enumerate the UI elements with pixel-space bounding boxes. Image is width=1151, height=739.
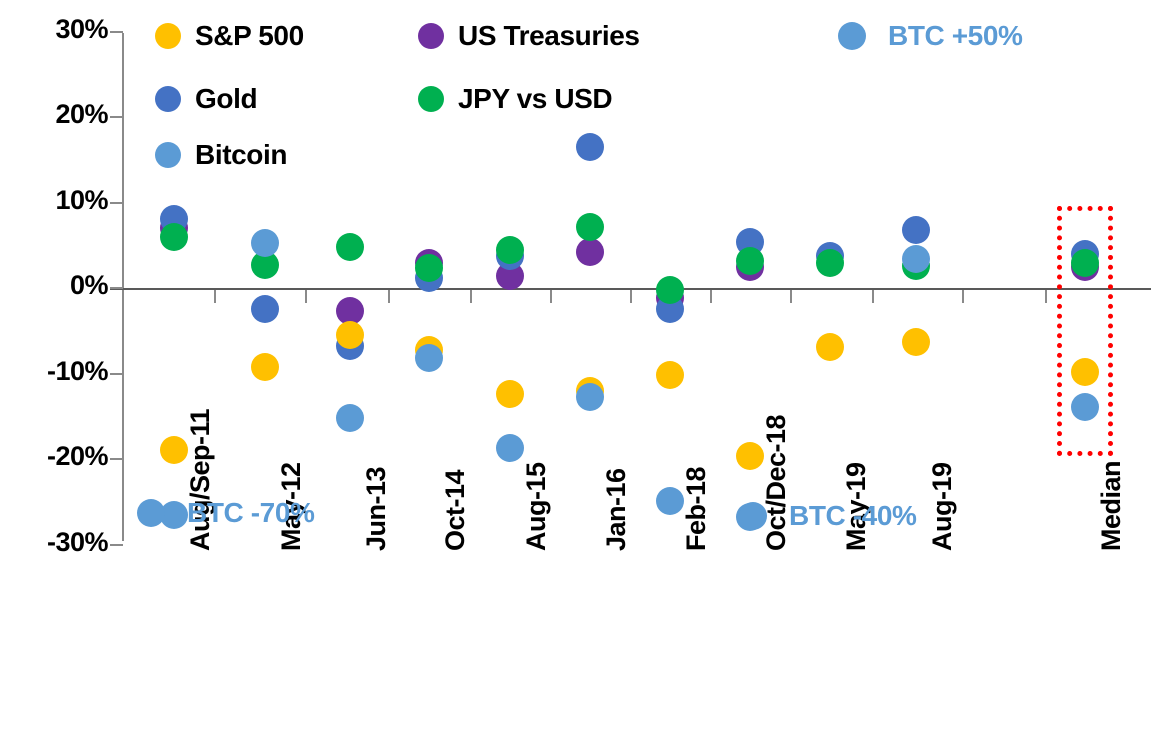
data-point	[1071, 393, 1099, 421]
annotation-label: BTC +50%	[888, 20, 1023, 52]
annotation-btc-minus-70: BTC -70%	[137, 497, 315, 529]
legend-label: Gold	[195, 83, 257, 115]
data-point	[160, 436, 188, 464]
scatter-chart: 30%20%10%0%-10%-20%-30% Aug/Sep-11May-12…	[0, 0, 1151, 739]
legend-item-us-treasuries[interactable]: US Treasuries	[418, 20, 640, 52]
legend-item-s-p-500[interactable]: S&P 500	[155, 20, 304, 52]
x-axis-label: Aug/Sep-11	[185, 409, 216, 551]
legend-swatch-icon	[418, 86, 444, 112]
legend-swatch-icon	[155, 142, 181, 168]
data-point	[576, 238, 604, 266]
legend-label: US Treasuries	[458, 20, 640, 52]
legend-item-gold[interactable]: Gold	[155, 83, 257, 115]
data-point	[251, 353, 279, 381]
legend-label: JPY vs USD	[458, 83, 612, 115]
legend-label: S&P 500	[195, 20, 304, 52]
annotation-label: BTC -40%	[789, 500, 917, 532]
annotation-dot-icon	[137, 499, 165, 527]
data-point	[251, 295, 279, 323]
legend-label: Bitcoin	[195, 139, 287, 171]
data-point	[415, 344, 443, 372]
x-axis-label: Jun-13	[361, 467, 392, 551]
data-point	[656, 361, 684, 389]
data-point	[656, 487, 684, 515]
legend-swatch-icon	[418, 23, 444, 49]
data-point	[902, 216, 930, 244]
data-point	[816, 333, 844, 361]
data-point	[902, 328, 930, 356]
data-point	[160, 223, 188, 251]
data-point	[496, 380, 524, 408]
data-point	[816, 249, 844, 277]
data-point	[336, 233, 364, 261]
legend-item-bitcoin[interactable]: Bitcoin	[155, 139, 287, 171]
x-axis-label: Jan-16	[601, 468, 632, 551]
data-point	[1071, 358, 1099, 386]
data-point	[736, 442, 764, 470]
data-point	[496, 236, 524, 264]
x-axis-label: Feb-18	[681, 467, 712, 551]
x-axis-label: Median	[1096, 461, 1127, 551]
data-point	[656, 276, 684, 304]
annotation-dot-icon	[838, 22, 866, 50]
x-axis-label: Aug-15	[521, 462, 552, 551]
legend-item-jpy-vs-usd[interactable]: JPY vs USD	[418, 83, 612, 115]
annotation-btc-minus-40: BTC -40%	[739, 500, 917, 532]
annotation-btc-plus-50: BTC +50%	[838, 20, 1023, 52]
legend-swatch-icon	[155, 86, 181, 112]
data-point	[251, 229, 279, 257]
annotation-dot-icon	[739, 502, 767, 530]
data-point	[902, 245, 930, 273]
annotation-label: BTC -70%	[187, 497, 315, 529]
x-axis-label: Oct-14	[440, 470, 471, 551]
legend-swatch-icon	[155, 23, 181, 49]
data-point	[496, 434, 524, 462]
data-point	[576, 213, 604, 241]
data-point	[1071, 249, 1099, 277]
data-point	[336, 321, 364, 349]
data-point	[336, 404, 364, 432]
data-point	[576, 133, 604, 161]
x-axis-label: Aug-19	[927, 462, 958, 551]
data-point	[576, 383, 604, 411]
